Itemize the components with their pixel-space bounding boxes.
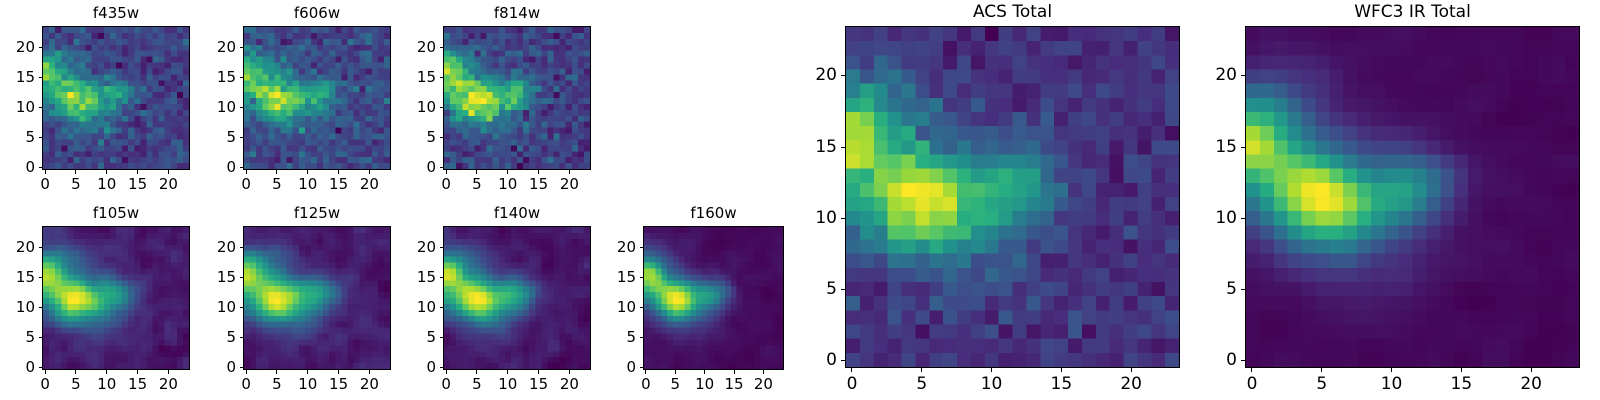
ytick-mark-acs-total-4	[841, 75, 845, 76]
ytick-mark-wfc3-ir-total-3	[1241, 147, 1245, 148]
ytick-mark-f105w-0	[39, 367, 43, 368]
ytick-mark-f160w-4	[640, 247, 644, 248]
ytick-mark-f125w-3	[240, 277, 244, 278]
ytick-mark-f125w-1	[240, 337, 244, 338]
xtick-label-f125w-4: 20	[329, 377, 409, 392]
xtick-mark-f606w-1	[276, 170, 277, 174]
ytick-label-acs-total-3: 15	[777, 139, 837, 156]
ytick-label-f140w-4: 20	[376, 240, 436, 255]
heatmap-canvas-f125w	[244, 227, 390, 369]
ytick-mark-f140w-1	[440, 337, 444, 338]
ytick-label-f814w-0: 0	[376, 160, 436, 175]
xtick-mark-f125w-2	[307, 370, 308, 374]
xtick-mark-f435w-4	[168, 170, 169, 174]
xtick-label-acs-total-2: 10	[952, 376, 1032, 393]
heatmap-f814w[interactable]	[443, 26, 591, 170]
xtick-mark-f814w-4	[569, 170, 570, 174]
ytick-label-f140w-1: 5	[376, 330, 436, 345]
panel-title-acs-total: ACS Total	[845, 4, 1180, 21]
xtick-mark-f105w-2	[106, 370, 107, 374]
xtick-mark-f606w-0	[246, 170, 247, 174]
ytick-label-f160w-1: 5	[576, 330, 636, 345]
ytick-mark-f125w-0	[240, 367, 244, 368]
ytick-label-f105w-3: 15	[0, 270, 35, 285]
ytick-mark-f606w-4	[240, 47, 244, 48]
heatmap-canvas-f140w	[444, 227, 590, 369]
xtick-mark-f814w-1	[476, 170, 477, 174]
ytick-label-f105w-4: 20	[0, 240, 35, 255]
heatmap-f105w[interactable]	[42, 226, 190, 370]
ytick-label-wfc3-ir-total-3: 15	[1177, 139, 1237, 156]
xtick-label-f105w-4: 20	[128, 377, 208, 392]
ytick-label-wfc3-ir-total-4: 20	[1177, 67, 1237, 84]
xtick-mark-f160w-4	[763, 370, 764, 374]
xtick-label-wfc3-ir-total-3: 15	[1421, 376, 1501, 393]
ytick-mark-f160w-3	[640, 277, 644, 278]
ytick-label-f140w-2: 10	[376, 300, 436, 315]
xtick-mark-f435w-3	[137, 170, 138, 174]
ytick-label-f140w-3: 15	[376, 270, 436, 285]
xtick-label-acs-total-1: 5	[882, 376, 962, 393]
ytick-mark-f140w-0	[440, 367, 444, 368]
ytick-mark-f606w-2	[240, 107, 244, 108]
ytick-mark-acs-total-1	[841, 289, 845, 290]
panel-title-wfc3-ir-total: WFC3 IR Total	[1245, 4, 1580, 21]
xtick-mark-f160w-1	[675, 370, 676, 374]
ytick-mark-f814w-3	[440, 77, 444, 78]
ytick-label-f814w-1: 5	[376, 130, 436, 145]
xtick-mark-f606w-3	[338, 170, 339, 174]
ytick-label-acs-total-0: 0	[777, 352, 837, 369]
xtick-mark-f125w-0	[246, 370, 247, 374]
ytick-mark-f140w-3	[440, 277, 444, 278]
xtick-mark-f140w-1	[476, 370, 477, 374]
heatmap-f140w[interactable]	[443, 226, 591, 370]
xtick-label-f606w-4: 20	[329, 177, 409, 192]
xtick-mark-f435w-0	[45, 170, 46, 174]
panel-f814w[interactable]: f814w0510152005101520	[443, 26, 591, 170]
panel-f105w[interactable]: f105w0510152005101520	[42, 226, 190, 370]
xtick-mark-f814w-0	[446, 170, 447, 174]
xtick-mark-f125w-1	[276, 370, 277, 374]
xtick-mark-f105w-0	[45, 370, 46, 374]
xtick-mark-f140w-3	[538, 370, 539, 374]
xtick-mark-wfc3-ir-total-0	[1251, 368, 1252, 372]
xtick-mark-f814w-2	[507, 170, 508, 174]
ytick-mark-f105w-4	[39, 247, 43, 248]
heatmap-acs-total[interactable]	[845, 26, 1180, 368]
ytick-label-f125w-1: 5	[176, 330, 236, 345]
ytick-mark-f140w-2	[440, 307, 444, 308]
xtick-label-wfc3-ir-total-1: 5	[1282, 376, 1362, 393]
panel-f140w[interactable]: f140w0510152005101520	[443, 226, 591, 370]
ytick-mark-acs-total-3	[841, 147, 845, 148]
ytick-label-f125w-4: 20	[176, 240, 236, 255]
panel-f606w[interactable]: f606w0510152005101520	[243, 26, 391, 170]
ytick-label-f606w-3: 15	[176, 70, 236, 85]
ytick-label-f125w-0: 0	[176, 360, 236, 375]
ytick-mark-wfc3-ir-total-1	[1241, 289, 1245, 290]
xtick-label-wfc3-ir-total-2: 10	[1352, 376, 1432, 393]
xtick-mark-f160w-2	[704, 370, 705, 374]
ytick-label-f606w-0: 0	[176, 160, 236, 175]
ytick-mark-f814w-4	[440, 47, 444, 48]
xtick-mark-wfc3-ir-total-3	[1461, 368, 1462, 372]
ytick-label-f105w-0: 0	[0, 360, 35, 375]
heatmap-canvas-f160w	[644, 227, 783, 369]
xtick-mark-wfc3-ir-total-1	[1321, 368, 1322, 372]
panel-title-f160w: f160w	[643, 206, 784, 221]
ytick-mark-f606w-3	[240, 77, 244, 78]
ytick-mark-wfc3-ir-total-4	[1241, 75, 1245, 76]
ytick-label-f160w-3: 15	[576, 270, 636, 285]
xtick-mark-f125w-3	[338, 370, 339, 374]
xtick-mark-f160w-3	[734, 370, 735, 374]
heatmap-canvas-f814w	[444, 27, 590, 169]
ytick-mark-wfc3-ir-total-2	[1241, 218, 1245, 219]
panel-title-f435w: f435w	[42, 6, 190, 21]
ytick-mark-f814w-2	[440, 107, 444, 108]
xtick-mark-acs-total-4	[1131, 368, 1132, 372]
panel-wfc3-ir-total[interactable]: WFC3 IR Total0510152005101520	[1245, 26, 1580, 368]
ytick-mark-f160w-2	[640, 307, 644, 308]
xtick-label-wfc3-ir-total-0: 0	[1212, 376, 1292, 393]
panel-title-f125w: f125w	[243, 206, 391, 221]
panel-title-f814w: f814w	[443, 6, 591, 21]
xtick-label-f160w-4: 20	[723, 377, 803, 392]
ytick-label-acs-total-2: 10	[777, 210, 837, 227]
ytick-label-wfc3-ir-total-0: 0	[1177, 352, 1237, 369]
ytick-label-f606w-2: 10	[176, 100, 236, 115]
xtick-mark-f606w-4	[369, 170, 370, 174]
ytick-label-f125w-2: 10	[176, 300, 236, 315]
heatmap-f125w[interactable]	[243, 226, 391, 370]
ytick-mark-f105w-1	[39, 337, 43, 338]
ytick-mark-f105w-2	[39, 307, 43, 308]
xtick-label-wfc3-ir-total-4: 20	[1491, 376, 1571, 393]
xtick-mark-acs-total-2	[991, 368, 992, 372]
ytick-label-f606w-4: 20	[176, 40, 236, 55]
xtick-label-acs-total-0: 0	[812, 376, 892, 393]
xtick-label-f435w-4: 20	[128, 177, 208, 192]
ytick-label-f606w-1: 5	[176, 130, 236, 145]
heatmap-f160w[interactable]	[643, 226, 784, 370]
heatmap-canvas-f105w	[43, 227, 189, 369]
ytick-mark-f435w-4	[39, 47, 43, 48]
xtick-label-f814w-4: 20	[529, 177, 609, 192]
panel-f125w[interactable]: f125w0510152005101520	[243, 226, 391, 370]
panel-f435w[interactable]: f435w0510152005101520	[42, 26, 190, 170]
ytick-mark-f105w-3	[39, 277, 43, 278]
ytick-mark-f435w-3	[39, 77, 43, 78]
xtick-mark-acs-total-3	[1061, 368, 1062, 372]
ytick-label-f160w-2: 10	[576, 300, 636, 315]
panel-acs-total[interactable]: ACS Total0510152005101520	[845, 26, 1180, 368]
heatmap-canvas-wfc3-ir-total	[1246, 27, 1579, 367]
ytick-label-f435w-3: 15	[0, 70, 35, 85]
ytick-mark-f814w-0	[440, 167, 444, 168]
ytick-label-f160w-0: 0	[576, 360, 636, 375]
heatmap-canvas-f606w	[244, 27, 390, 169]
xtick-mark-f140w-0	[446, 370, 447, 374]
xtick-mark-f160w-0	[645, 370, 646, 374]
ytick-mark-f160w-1	[640, 337, 644, 338]
ytick-mark-f606w-1	[240, 137, 244, 138]
ytick-label-f435w-2: 10	[0, 100, 35, 115]
ytick-mark-f125w-2	[240, 307, 244, 308]
xtick-mark-f814w-3	[538, 170, 539, 174]
ytick-label-f814w-2: 10	[376, 100, 436, 115]
heatmap-canvas-acs-total	[846, 27, 1179, 367]
xtick-mark-acs-total-0	[851, 368, 852, 372]
ytick-mark-f606w-0	[240, 167, 244, 168]
ytick-mark-f160w-0	[640, 367, 644, 368]
ytick-label-f105w-2: 10	[0, 300, 35, 315]
ytick-label-wfc3-ir-total-1: 5	[1177, 281, 1237, 298]
ytick-label-f435w-4: 20	[0, 40, 35, 55]
ytick-label-f160w-4: 20	[576, 240, 636, 255]
heatmap-wfc3-ir-total[interactable]	[1245, 26, 1580, 368]
ytick-mark-f814w-1	[440, 137, 444, 138]
xtick-mark-f125w-4	[369, 370, 370, 374]
xtick-mark-f435w-1	[75, 170, 76, 174]
ytick-mark-wfc3-ir-total-0	[1241, 360, 1245, 361]
ytick-mark-acs-total-2	[841, 218, 845, 219]
heatmap-canvas-f435w	[43, 27, 189, 169]
ytick-label-acs-total-4: 20	[777, 67, 837, 84]
ytick-mark-f140w-4	[440, 247, 444, 248]
panel-f160w[interactable]: f160w0510152005101520	[643, 226, 784, 370]
ytick-mark-f435w-0	[39, 167, 43, 168]
ytick-label-f140w-0: 0	[376, 360, 436, 375]
xtick-mark-f105w-1	[75, 370, 76, 374]
xtick-mark-wfc3-ir-total-4	[1531, 368, 1532, 372]
ytick-label-f435w-0: 0	[0, 160, 35, 175]
xtick-label-acs-total-3: 15	[1021, 376, 1101, 393]
xtick-mark-f140w-2	[507, 370, 508, 374]
xtick-mark-f140w-4	[569, 370, 570, 374]
ytick-label-wfc3-ir-total-2: 10	[1177, 210, 1237, 227]
panel-title-f606w: f606w	[243, 6, 391, 21]
ytick-mark-f125w-4	[240, 247, 244, 248]
ytick-label-f125w-3: 15	[176, 270, 236, 285]
xtick-mark-f606w-2	[307, 170, 308, 174]
xtick-label-acs-total-4: 20	[1091, 376, 1171, 393]
ytick-label-f105w-1: 5	[0, 330, 35, 345]
xtick-mark-f105w-3	[137, 370, 138, 374]
ytick-label-f814w-3: 15	[376, 70, 436, 85]
ytick-mark-f435w-2	[39, 107, 43, 108]
heatmap-f435w[interactable]	[42, 26, 190, 170]
xtick-mark-f105w-4	[168, 370, 169, 374]
xtick-mark-f435w-2	[106, 170, 107, 174]
ytick-mark-acs-total-0	[841, 360, 845, 361]
heatmap-f606w[interactable]	[243, 26, 391, 170]
xtick-mark-acs-total-1	[921, 368, 922, 372]
ytick-label-acs-total-1: 5	[777, 281, 837, 298]
xtick-mark-wfc3-ir-total-2	[1391, 368, 1392, 372]
panel-title-f105w: f105w	[42, 206, 190, 221]
panel-title-f140w: f140w	[443, 206, 591, 221]
ytick-label-f814w-4: 20	[376, 40, 436, 55]
ytick-label-f435w-1: 5	[0, 130, 35, 145]
ytick-mark-f435w-1	[39, 137, 43, 138]
xtick-label-f140w-4: 20	[529, 377, 609, 392]
figure-canvas: f435w0510152005101520 f606w0510152005101…	[0, 0, 1600, 400]
